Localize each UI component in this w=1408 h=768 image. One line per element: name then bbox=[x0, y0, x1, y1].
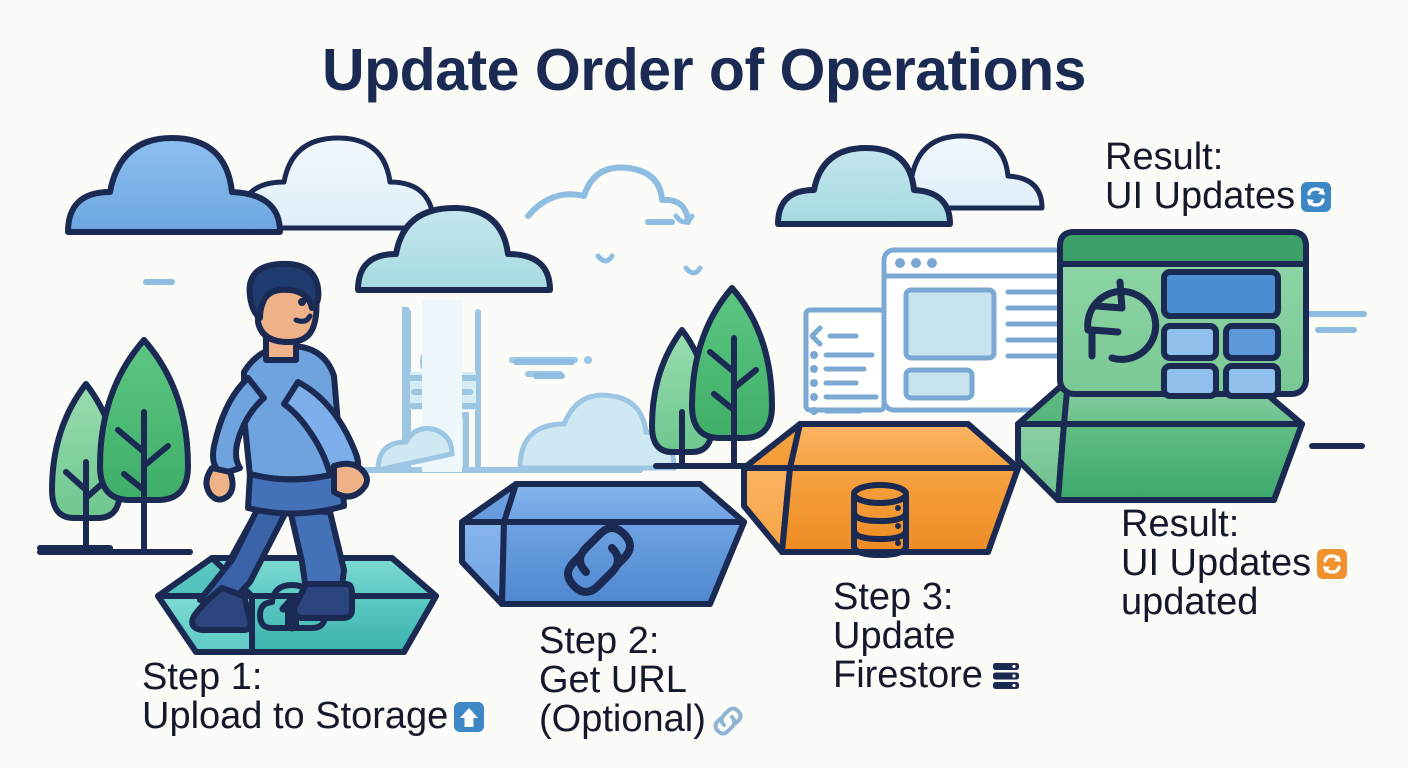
result-top-line2-text: UI Updates bbox=[1105, 175, 1295, 217]
result-top-line1: Result: bbox=[1105, 138, 1331, 177]
step3-caption-line3-text: Firestore bbox=[833, 654, 983, 696]
illustration-canvas: Update Order of Operations Step 1: Uploa… bbox=[0, 0, 1408, 768]
step2-caption: Step 2: Get URL (Optional) bbox=[539, 622, 744, 738]
face-eye bbox=[298, 298, 306, 306]
result-bottom-line2: UI Updates bbox=[1121, 544, 1347, 583]
result-top-line2: UI Updates bbox=[1105, 177, 1331, 216]
result-bottom-line1: Result: bbox=[1121, 505, 1347, 544]
step2-caption-line1: Step 2: bbox=[539, 622, 744, 661]
step3-caption-line3: Firestore bbox=[833, 656, 1021, 695]
step3-caption-line2: Update bbox=[833, 617, 1021, 656]
result-caption-top: Result: UI Updates bbox=[1105, 138, 1331, 216]
step2-platform[interactable] bbox=[462, 484, 744, 604]
screen-block-4 bbox=[1226, 366, 1278, 396]
result-bottom-line2-text: UI Updates bbox=[1121, 542, 1311, 584]
screen-block-1 bbox=[1164, 326, 1216, 358]
up-arrow-emoji bbox=[454, 702, 484, 732]
refresh-emoji-bottom bbox=[1317, 549, 1347, 579]
step2-caption-line3-text: (Optional) bbox=[539, 698, 706, 740]
screen-block-2 bbox=[1226, 326, 1278, 358]
page-title: Update Order of Operations bbox=[0, 36, 1408, 104]
result-caption-bottom: Result: UI Updates updated bbox=[1121, 505, 1347, 621]
step1-caption-line2-text: Upload to Storage bbox=[142, 695, 448, 737]
result-screen-panel[interactable] bbox=[1060, 232, 1306, 396]
step3-caption: Step 3: Update Firestore bbox=[833, 578, 1021, 694]
refresh-emoji-top bbox=[1301, 182, 1331, 212]
screen-block-wide bbox=[1164, 272, 1278, 316]
database-server-emoji bbox=[991, 660, 1021, 692]
step1-caption-line2: Upload to Storage bbox=[142, 697, 484, 736]
step3-caption-line1: Step 3: bbox=[833, 578, 1021, 617]
step1-caption: Step 1: Upload to Storage bbox=[142, 658, 484, 736]
step3-platform[interactable] bbox=[744, 424, 1018, 555]
link-emoji bbox=[712, 705, 744, 735]
step2-caption-line2: Get URL bbox=[539, 661, 744, 700]
result-bottom-line3: updated bbox=[1121, 583, 1347, 622]
step2-caption-line3: (Optional) bbox=[539, 700, 744, 739]
step1-caption-line1: Step 1: bbox=[142, 658, 484, 697]
screen-block-3 bbox=[1164, 366, 1216, 396]
